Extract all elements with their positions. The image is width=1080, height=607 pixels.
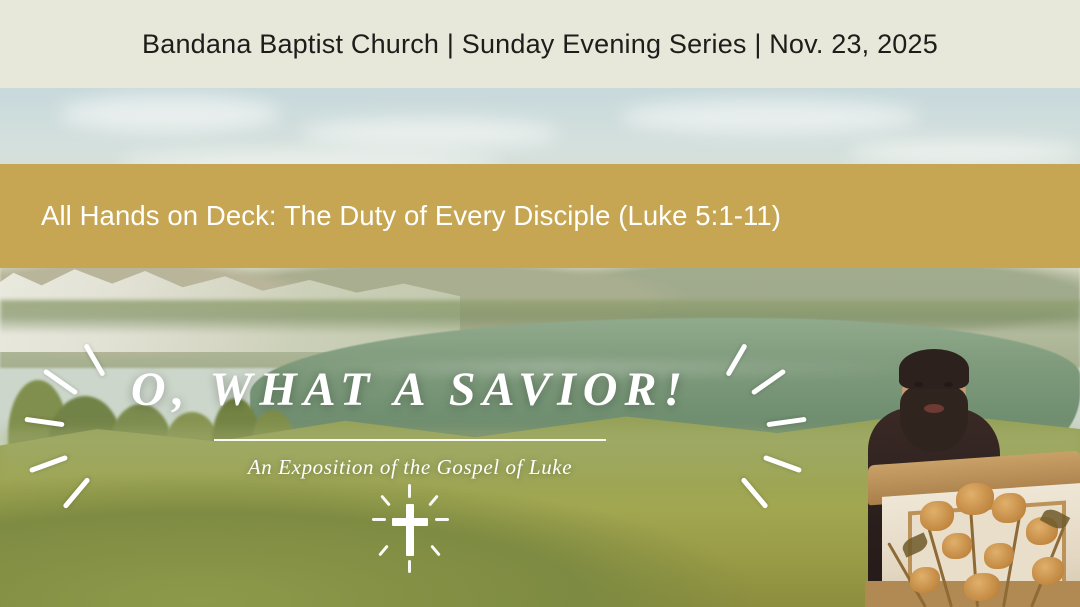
series-title: O, WHAT A SAVIOR! — [0, 362, 820, 417]
sermon-title-band: All Hands on Deck: The Duty of Every Dis… — [0, 164, 1080, 268]
cloud — [850, 140, 1080, 166]
cross-vertical-bar — [406, 504, 414, 556]
speaker-hair — [899, 349, 969, 389]
speaker-mouth — [924, 404, 944, 413]
flower-arrangement — [880, 475, 1080, 607]
sermon-slide: Bandana Baptist Church | Sunday Evening … — [0, 0, 1080, 607]
dried-bloom — [964, 573, 1000, 601]
dried-bloom — [910, 567, 940, 593]
dried-bloom — [956, 483, 994, 515]
cross-horizontal-bar — [392, 518, 428, 526]
cloud — [60, 95, 280, 133]
dried-bloom — [942, 533, 972, 559]
speaker-eye-left — [914, 382, 923, 387]
header-text: Bandana Baptist Church | Sunday Evening … — [142, 29, 938, 60]
cloud — [300, 118, 560, 148]
dried-bloom — [1032, 557, 1064, 585]
series-subtitle: An Exposition of the Gospel of Luke — [0, 455, 820, 480]
speaker-eye-right — [944, 382, 953, 387]
divider-rule — [214, 439, 606, 441]
dried-leaf — [900, 532, 930, 557]
speaker-beard — [900, 386, 968, 452]
sermon-title: All Hands on Deck: The Duty of Every Dis… — [0, 200, 781, 232]
cloud — [620, 100, 920, 134]
cross-icon — [375, 492, 445, 570]
dried-bloom — [984, 543, 1014, 569]
header-bar: Bandana Baptist Church | Sunday Evening … — [0, 0, 1080, 88]
dried-bloom — [992, 493, 1026, 523]
dried-bloom — [920, 501, 954, 531]
